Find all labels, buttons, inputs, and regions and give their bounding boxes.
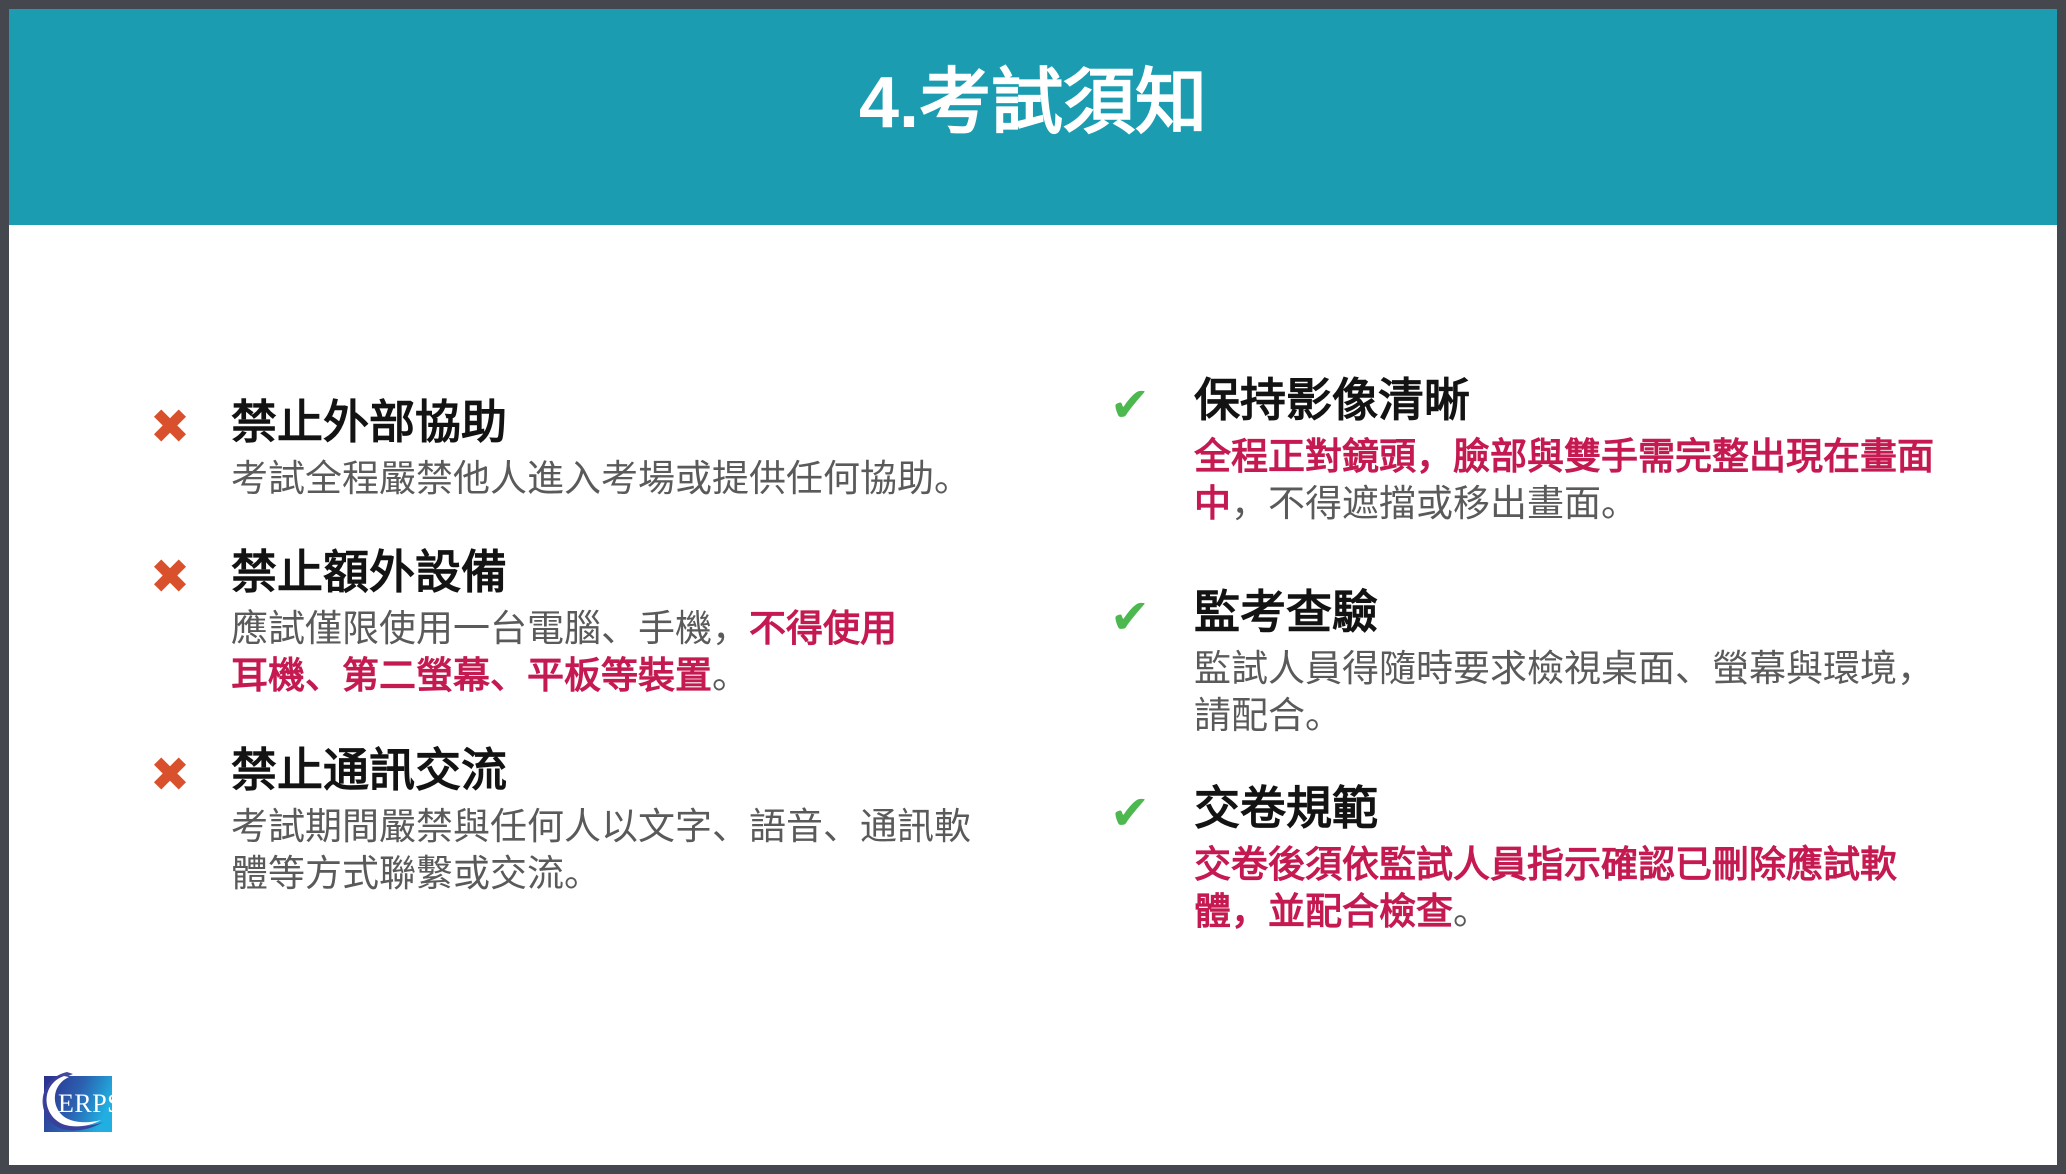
list-item-text: 禁止外部協助 考試全程嚴禁他人進入考場或提供任何協助。 bbox=[231, 397, 1019, 502]
list-item-text: 交卷規範 交卷後須依監試人員指示確認已刪除應試軟體，並配合檢查。 bbox=[1194, 783, 1899, 935]
list-item-heading: 監考查驗 bbox=[1194, 587, 1899, 639]
body-text: 應試僅限使用一台電腦、手機， bbox=[231, 608, 749, 649]
list-item-heading: 保持影像清晰 bbox=[1194, 375, 1899, 427]
body-text: ，不得遮擋或移出畫面。 bbox=[1231, 483, 1638, 524]
list-item: ✔ 保持影像清晰 全程正對鏡頭，臉部與雙手需完整出現在畫面中，不得遮擋或移出畫面… bbox=[1099, 375, 1899, 527]
body-text: 。 bbox=[712, 655, 749, 696]
list-item-text: 禁止額外設備 應試僅限使用一台電腦、手機，不得使用耳機、第二螢幕、平板等裝置。 bbox=[231, 547, 1019, 699]
body-text: 。 bbox=[1453, 891, 1490, 932]
slide-canvas: 4.考試須知 ✖ 禁止外部協助 考試全程嚴禁他人進入考場或提供任何協助。 ✖ 禁… bbox=[9, 9, 2057, 1165]
list-item-body: 監試人員得隨時要求檢視桌面、螢幕與環境，請配合。 bbox=[1194, 645, 1954, 740]
list-item: ✖ 禁止通訊交流 考試期間嚴禁與任何人以文字、語音、通訊軟體等方式聯繫或交流。 bbox=[139, 745, 1019, 897]
list-item-heading: 禁止外部協助 bbox=[231, 397, 1019, 449]
cerps-logo: ERPS bbox=[31, 1062, 123, 1140]
list-item: ✔ 交卷規範 交卷後須依監試人員指示確認已刪除應試軟體，並配合檢查。 bbox=[1099, 783, 1899, 935]
check-mark-icon: ✔ bbox=[1099, 783, 1161, 845]
body-text: 監試人員得隨時要求檢視桌面、螢幕與環境，請配合。 bbox=[1194, 648, 1934, 736]
check-mark-icon: ✔ bbox=[1099, 587, 1161, 649]
list-item-body: 全程正對鏡頭，臉部與雙手需完整出現在畫面中，不得遮擋或移出畫面。 bbox=[1194, 433, 1954, 528]
list-item-body: 考試全程嚴禁他人進入考場或提供任何協助。 bbox=[231, 455, 991, 502]
body-text: 考試期間嚴禁與任何人以文字、語音、通訊軟體等方式聯繫或交流。 bbox=[231, 806, 971, 894]
cerps-logo-text: ERPS bbox=[58, 1089, 122, 1118]
list-item: ✖ 禁止額外設備 應試僅限使用一台電腦、手機，不得使用耳機、第二螢幕、平板等裝置… bbox=[139, 547, 1019, 699]
list-item-body: 應試僅限使用一台電腦、手機，不得使用耳機、第二螢幕、平板等裝置。 bbox=[231, 605, 931, 700]
check-mark-icon: ✔ bbox=[1099, 375, 1161, 437]
list-item: ✔ 監考查驗 監試人員得隨時要求檢視桌面、螢幕與環境，請配合。 bbox=[1099, 587, 1899, 739]
page-title: 4.考試須知 bbox=[9, 9, 2057, 225]
list-item-heading: 禁止額外設備 bbox=[231, 547, 1019, 599]
list-item-heading: 禁止通訊交流 bbox=[231, 745, 1019, 797]
list-item-body: 考試期間嚴禁與任何人以文字、語音、通訊軟體等方式聯繫或交流。 bbox=[231, 803, 971, 898]
body-text: 考試全程嚴禁他人進入考場或提供任何協助。 bbox=[231, 458, 971, 499]
list-item-text: 監考查驗 監試人員得隨時要求檢視桌面、螢幕與環境，請配合。 bbox=[1194, 587, 1899, 739]
list-item-body: 交卷後須依監試人員指示確認已刪除應試軟體，並配合檢查。 bbox=[1194, 841, 1954, 936]
list-item-heading: 交卷規範 bbox=[1194, 783, 1899, 835]
title-banner: 4.考試須知 bbox=[9, 9, 2057, 225]
cross-mark-icon: ✖ bbox=[139, 745, 201, 807]
cross-mark-icon: ✖ bbox=[139, 397, 201, 459]
slide-content: ✖ 禁止外部協助 考試全程嚴禁他人進入考場或提供任何協助。 ✖ 禁止額外設備 應… bbox=[9, 225, 2057, 1165]
emphasised-text: 交卷後須依監試人員指示確認已刪除應試軟體，並配合檢查 bbox=[1194, 844, 1897, 932]
list-item-text: 禁止通訊交流 考試期間嚴禁與任何人以文字、語音、通訊軟體等方式聯繫或交流。 bbox=[231, 745, 1019, 897]
cross-mark-icon: ✖ bbox=[139, 547, 201, 609]
list-item-text: 保持影像清晰 全程正對鏡頭，臉部與雙手需完整出現在畫面中，不得遮擋或移出畫面。 bbox=[1194, 375, 1899, 527]
cerps-logo-mark: ERPS bbox=[31, 1062, 123, 1140]
list-item: ✖ 禁止外部協助 考試全程嚴禁他人進入考場或提供任何協助。 bbox=[139, 397, 1019, 502]
slide-frame: 4.考試須知 ✖ 禁止外部協助 考試全程嚴禁他人進入考場或提供任何協助。 ✖ 禁… bbox=[0, 0, 2066, 1174]
